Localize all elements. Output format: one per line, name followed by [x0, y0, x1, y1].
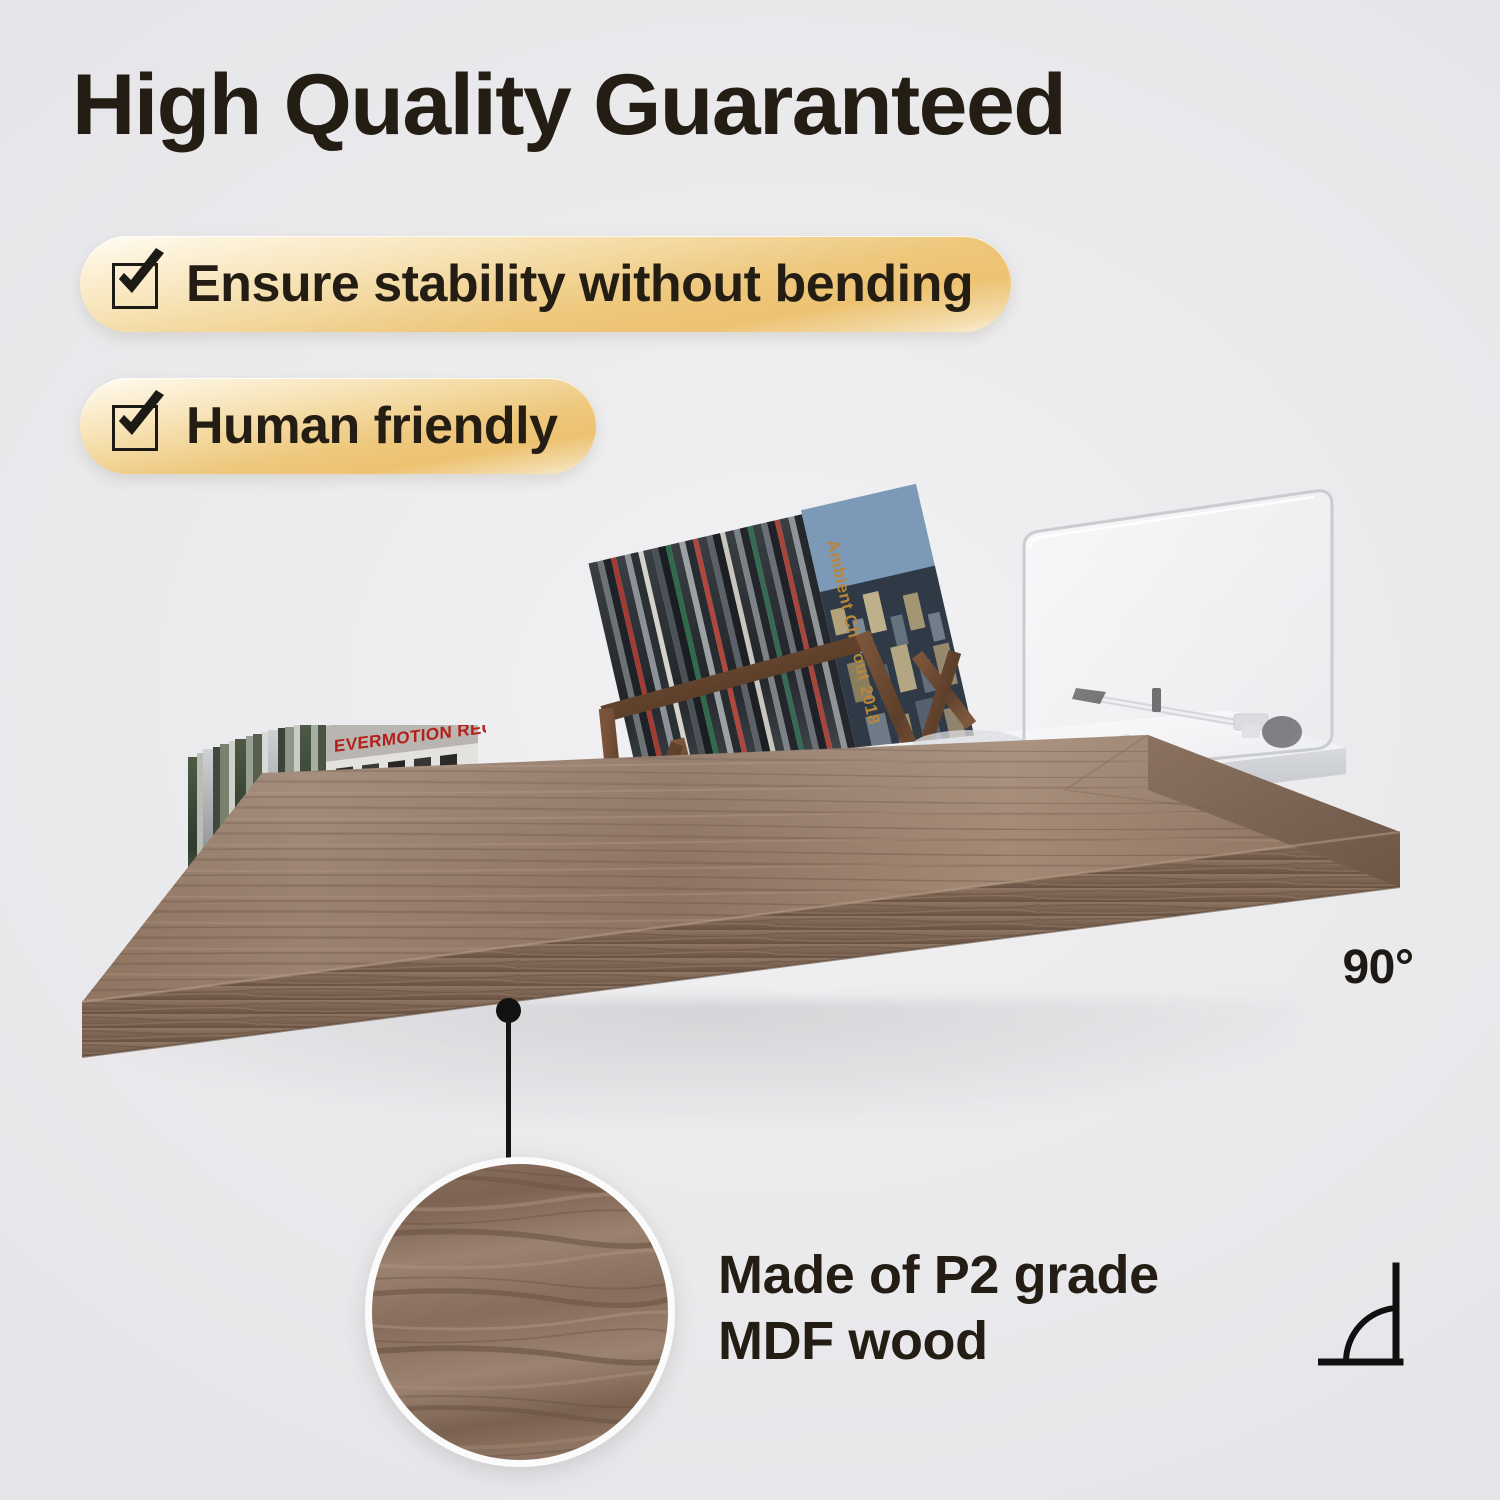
checkbox-checked-icon — [110, 257, 164, 311]
page-title: High Quality Guaranteed — [72, 62, 1439, 148]
feature-pill-label: Ensure stability without bending — [186, 254, 973, 314]
feature-pill-stability: Ensure stability without bending — [80, 236, 1011, 332]
product-photo: EVERMOTION RECORDS EVERMOTION — [0, 440, 1500, 1140]
angle-label: 90° — [1318, 940, 1438, 995]
detail-line-2: MDF wood — [718, 1309, 1338, 1375]
detail-callout-text: Made of P2 grade MDF wood — [718, 1243, 1338, 1375]
wood-grain-closeup-icon — [365, 1157, 675, 1467]
floating-shelf — [0, 440, 1500, 1140]
callout-leader-line — [506, 1020, 511, 1173]
detail-line-1: Made of P2 grade — [718, 1245, 1159, 1305]
product-marketing-image: High Quality Guaranteed Ensure stability… — [0, 0, 1500, 1500]
